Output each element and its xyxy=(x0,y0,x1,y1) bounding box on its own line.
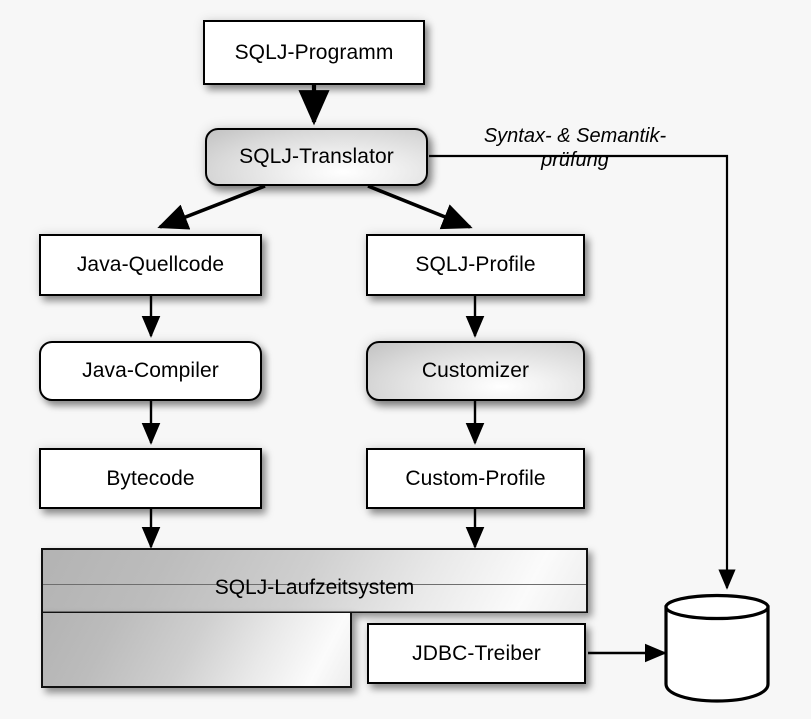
node-label: Java-Quellcode xyxy=(71,253,230,276)
node-sqlj-programm[interactable]: SQLJ-Programm xyxy=(203,20,425,85)
runtime-divider-line-2 xyxy=(43,611,586,612)
node-label: SQLJ-Programm xyxy=(229,41,400,64)
node-database[interactable] xyxy=(660,588,788,710)
node-label: Customizer xyxy=(416,359,535,382)
annotation-line-1: Syntax- & Semantik- xyxy=(484,125,666,147)
node-java-quellcode[interactable]: Java-Quellcode xyxy=(39,234,262,296)
runtime-lower-band xyxy=(41,611,352,688)
node-custom-profile[interactable]: Custom-Profile xyxy=(366,448,585,509)
runtime-system-label: SQLJ-Laufzeitsystem xyxy=(41,576,588,600)
node-label: Java-Compiler xyxy=(76,359,225,382)
node-label: Bytecode xyxy=(100,467,200,490)
node-sqlj-translator[interactable]: SQLJ-Translator xyxy=(205,128,428,186)
node-sqlj-profile[interactable]: SQLJ-Profile xyxy=(366,234,585,296)
annotation-line-2: prüfung xyxy=(541,149,609,171)
diagram-canvas: SQLJ-Programm SQLJ-Translator Java-Quell… xyxy=(0,0,811,719)
node-java-compiler[interactable]: Java-Compiler xyxy=(39,341,262,401)
edge-translator-to-sqljprofile xyxy=(368,186,470,227)
annotation-syntax-check: Syntax- & Semantik- prüfung xyxy=(450,124,700,173)
node-bytecode[interactable]: Bytecode xyxy=(39,448,262,509)
node-label: SQLJ-Profile xyxy=(409,253,541,276)
node-label: JDBC-Treiber xyxy=(406,642,547,665)
node-label: Custom-Profile xyxy=(399,467,551,490)
database-cylinder-icon xyxy=(660,588,788,710)
node-customizer[interactable]: Customizer xyxy=(366,341,585,401)
node-jdbc-treiber[interactable]: JDBC-Treiber xyxy=(367,623,586,684)
edge-translator-to-quellcode xyxy=(160,186,265,227)
node-label: SQLJ-Translator xyxy=(233,145,400,168)
